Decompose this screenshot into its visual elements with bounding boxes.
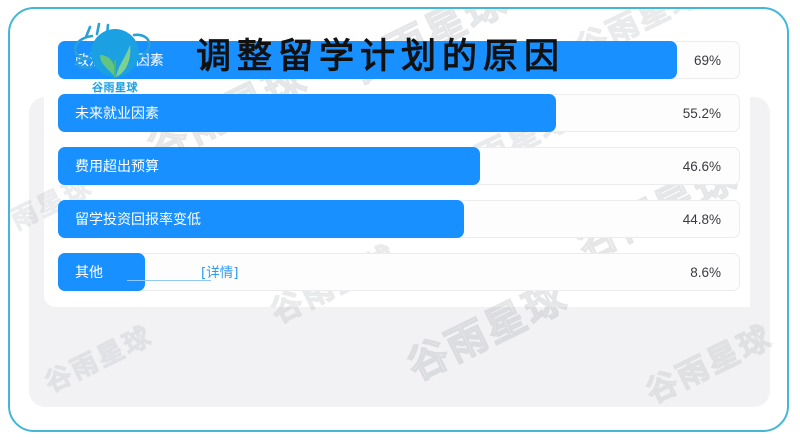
bar-label: 其他: [75, 254, 103, 292]
bar-row[interactable]: 费用超出预算 46.6%: [58, 147, 740, 185]
bar-value: 55.2%: [683, 95, 721, 133]
other-input-underline[interactable]: [127, 280, 211, 282]
planet-sprout-logo-icon: 谷雨星球: [62, 21, 174, 95]
poster-card: 谷雨星球 谷雨星球 谷雨星球 谷雨星球 谷雨星球 谷雨星球 谷雨星球 谷雨星球 …: [8, 7, 789, 432]
header: 谷雨星球 调整留学计划的原因: [10, 9, 787, 97]
bar-value: 8.6%: [690, 254, 721, 292]
bar-row[interactable]: 未来就业因素 55.2%: [58, 94, 740, 132]
bar-value: 46.6%: [683, 148, 721, 186]
bar-value: 44.8%: [683, 201, 721, 239]
bar-row[interactable]: 留学投资回报率变低 44.8%: [58, 200, 740, 238]
detail-link[interactable]: [详情]: [201, 254, 239, 292]
bar-row-other[interactable]: 其他 [详情] 8.6%: [58, 253, 740, 291]
bar-label: 费用超出预算: [75, 148, 159, 186]
page-title: 调整留学计划的原因: [196, 33, 646, 81]
bar-label: 留学投资回报率变低: [75, 201, 201, 239]
svg-text:谷雨星球: 谷雨星球: [92, 80, 138, 94]
bar-label: 未来就业因素: [75, 95, 159, 133]
